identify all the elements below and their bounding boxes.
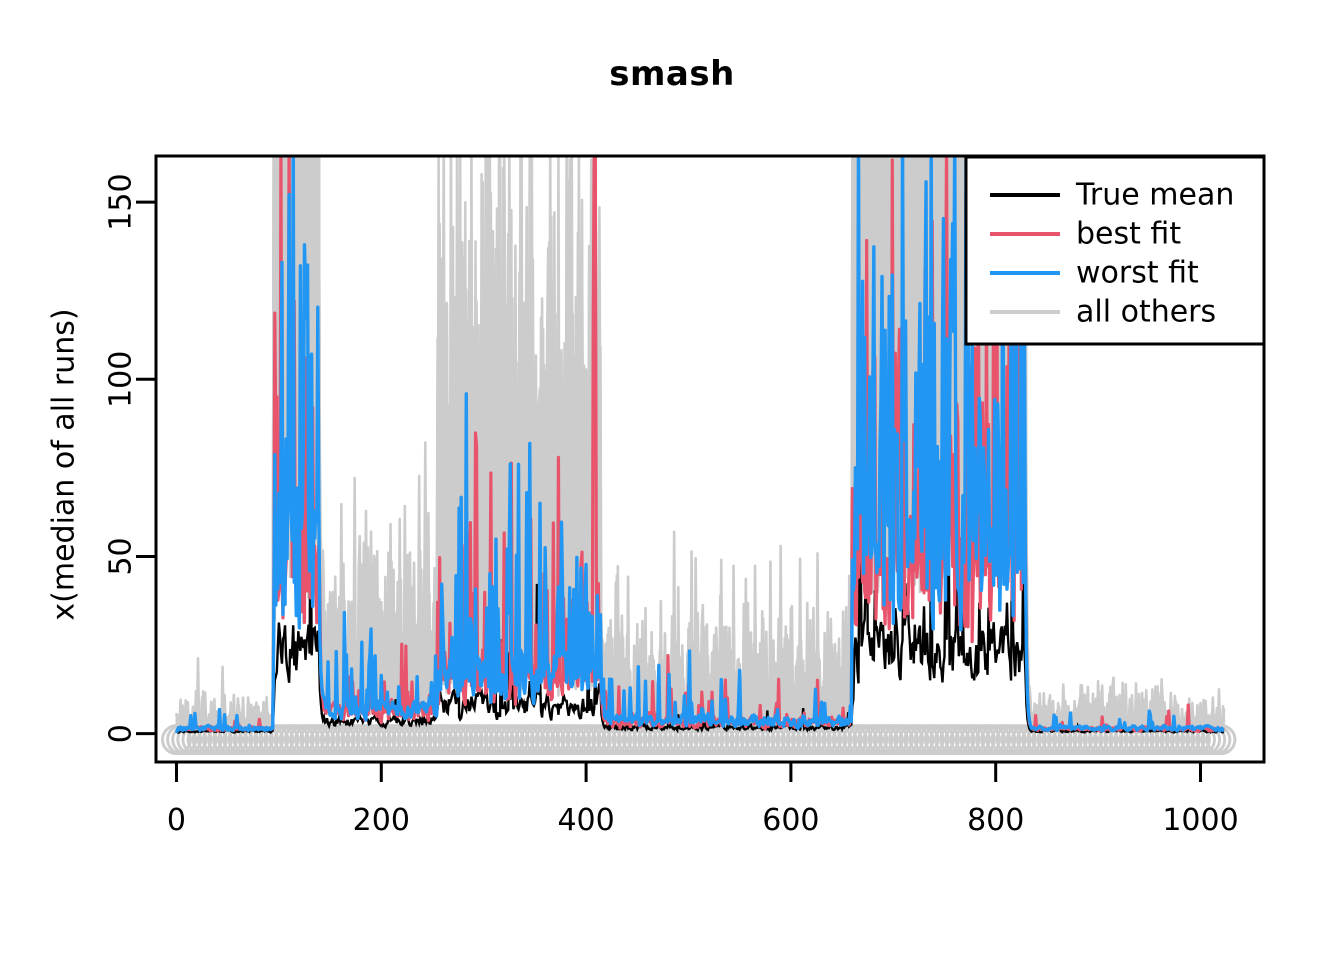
plot-canvas: 02004006008001000 050100150 True meanbes… (0, 0, 1344, 960)
x-tick-label: 800 (967, 803, 1024, 838)
y-tick-label: 100 (104, 351, 139, 408)
chart-legend[interactable]: True meanbest fitworst fitall others (966, 157, 1264, 344)
x-tick-label: 400 (557, 803, 614, 838)
y-tick-label: 50 (104, 537, 139, 575)
legend-label: best fit (1076, 217, 1181, 252)
legend-label: all others (1076, 295, 1216, 330)
x-tick-label: 600 (762, 803, 819, 838)
chart-figure: smash x(median of all runs) 020040060080… (0, 0, 1344, 960)
x-tick-label: 200 (353, 803, 410, 838)
x-axis: 02004006008001000 (167, 762, 1239, 838)
y-tick-label: 0 (104, 724, 139, 743)
legend-label: True mean (1075, 178, 1234, 213)
x-tick-label: 1000 (1162, 803, 1238, 838)
y-tick-label: 150 (104, 173, 139, 230)
y-axis: 050100150 (104, 173, 157, 743)
x-tick-label: 0 (167, 803, 186, 838)
legend-label: worst fit (1076, 256, 1199, 291)
